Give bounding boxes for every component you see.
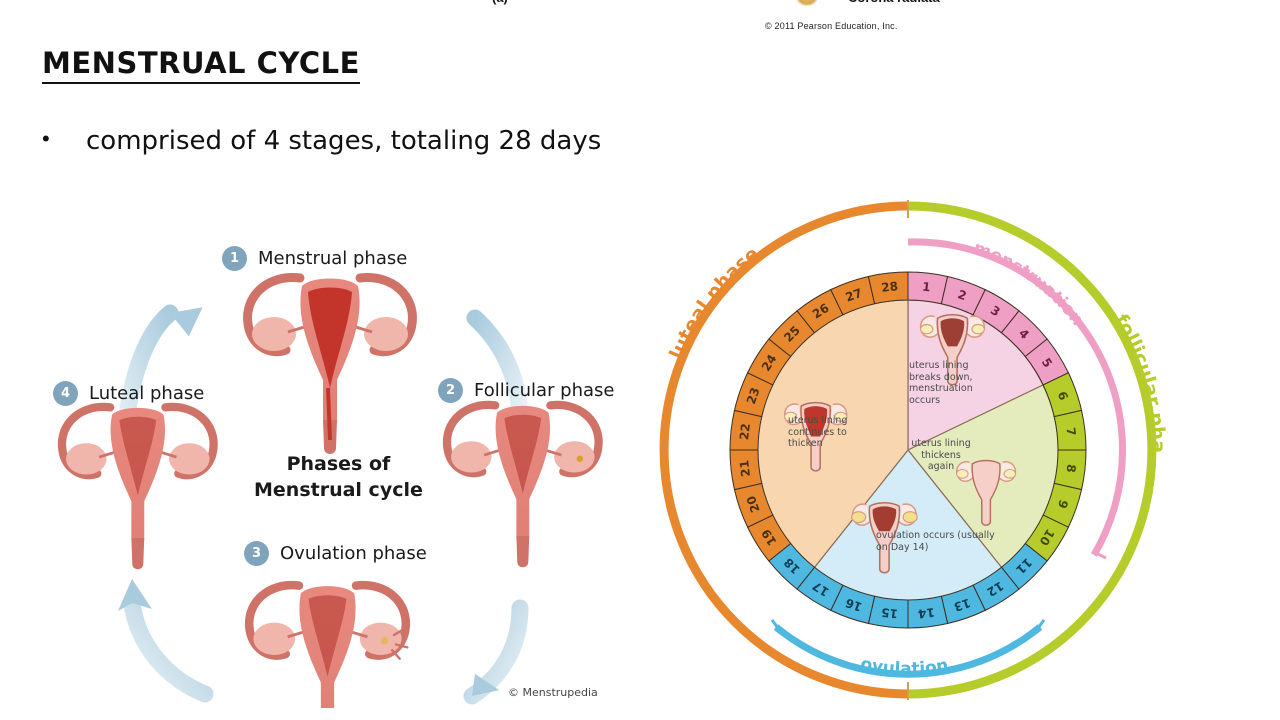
figure-caption-line1: Phases of (254, 451, 423, 477)
phase-label-luteal: Luteal phase (89, 383, 204, 404)
previous-slide-remnant: (a) Corona radiata (0, 0, 1280, 30)
day-number-15: 15 (881, 605, 899, 621)
label-luteal-phase: luteal phase (665, 243, 763, 362)
phase-badge-3: 3 (244, 541, 269, 566)
day-number-1: 1 (921, 280, 931, 295)
oocyte-blob-icon (796, 0, 818, 6)
figure-letter-label: (a) (492, 0, 508, 5)
day-number-14: 14 (917, 605, 935, 621)
phase-label-follicular: Follicular phase (474, 380, 615, 401)
cycle-wheel-diagram: 1234567891011121314151617181920212223242… (636, 200, 1180, 700)
sector-text-ovulation: ovulation occurs (usually on Day 14) (876, 530, 1006, 553)
page-title: MENSTRUAL CYCLE (42, 46, 360, 84)
label-ovulation: ovulation (859, 654, 950, 679)
sector-text-follicular: uterus lining thickens again (908, 438, 974, 473)
bullet-label: comprised of 4 stages, totaling 28 days (86, 126, 601, 156)
day-number-28: 28 (881, 279, 899, 295)
day-number-7: 7 (1064, 427, 1079, 437)
copyright-notice: © 2011 Pearson Education, Inc. (765, 21, 898, 31)
sector-text-menstruation: uterus lining breaks down, menstruation … (909, 360, 991, 406)
slide-canvas: (a) Corona radiata © 2011 Pearson Educat… (0, 0, 1280, 720)
phase-label-ovulation: Ovulation phase (280, 543, 427, 564)
menstrupedia-phases-figure: 1 Menstrual phase 2 Follicular phase 3 O… (20, 208, 630, 708)
corona-radiata-label: Corona radiata (848, 0, 940, 5)
phase-badge-2: 2 (438, 378, 463, 403)
sector-text-luteal: uterus lining continues to thicken (788, 415, 866, 450)
phase-badge-4: 4 (53, 381, 78, 406)
day-number-21: 21 (737, 459, 753, 477)
phase-badge-1: 1 (222, 246, 247, 271)
bullet-item: • comprised of 4 stages, totaling 28 day… (42, 126, 601, 156)
figure-caption: Phases of Menstrual cycle (254, 451, 423, 503)
day-number-22: 22 (737, 423, 753, 441)
day-number-8: 8 (1064, 463, 1079, 473)
figure-credit: © Menstrupedia (508, 686, 598, 699)
figure-caption-line2: Menstrual cycle (254, 477, 423, 503)
phase-label-menstrual: Menstrual phase (258, 248, 407, 269)
bullet-marker: • (42, 126, 86, 152)
